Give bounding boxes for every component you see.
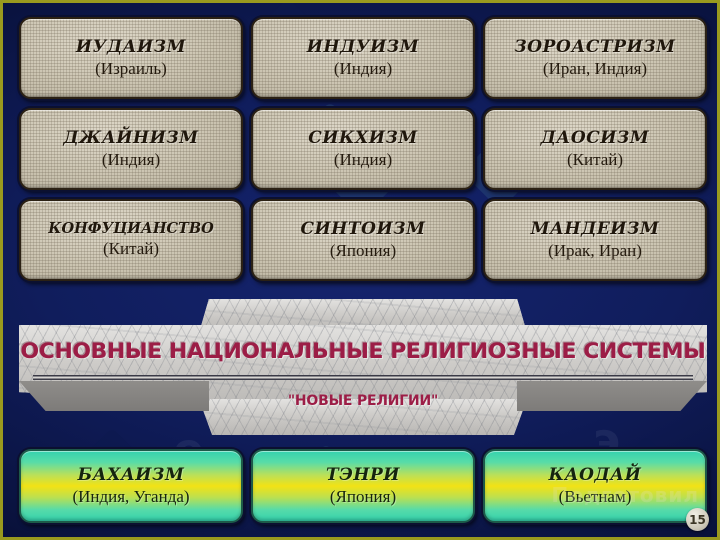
religion-card-mandaeism[interactable]: МАНДЕИЗМ (Ирак, Иран) [483, 199, 707, 281]
religion-name: СИКХИЗМ [308, 129, 418, 148]
religion-region: (Индия) [334, 151, 392, 170]
religion-name: ДЖАЙНИЗМ [63, 129, 198, 148]
religion-region: (Китай) [103, 240, 159, 259]
religion-row: ИУДАИЗМ (Израиль) ИНДУИЗМ (Индия) ЗОРОАС… [19, 17, 707, 99]
religion-name: МАНДЕИЗМ [531, 220, 660, 239]
banner-sub-title: "НОВЫЕ РЕЛИГИИ" [3, 393, 720, 409]
national-religions-grid: ИУДАИЗМ (Израиль) ИНДУИЗМ (Индия) ЗОРОАС… [19, 17, 707, 290]
title-banner: ОСНОВНЫЕ НАЦИОНАЛЬНЫЕ РЕЛИГИОЗНЫЕ СИСТЕМ… [3, 299, 720, 435]
religion-card-zoroastrianism[interactable]: ЗОРОАСТРИЗМ (Иран, Индия) [483, 17, 707, 99]
religion-name: ТЭНРИ [326, 466, 400, 485]
religion-name: СИНТОИЗМ [300, 220, 425, 239]
religion-name: ИУДАИЗМ [76, 38, 186, 57]
religion-card-tenrikyo[interactable]: ТЭНРИ (Япония) [251, 449, 475, 523]
religion-card-shintoism[interactable]: СИНТОИЗМ (Япония) [251, 199, 475, 281]
religion-card-taoism[interactable]: ДАОСИЗМ (Китай) [483, 108, 707, 190]
religion-region: (Китай) [567, 151, 623, 170]
religion-name: БАХАИЗМ [78, 466, 185, 485]
religion-region: (Израиль) [95, 60, 167, 79]
corner-watermark: Подготовил [552, 483, 699, 507]
religion-region: (Иран, Индия) [543, 60, 647, 79]
banner-main-title: ОСНОВНЫЕ НАЦИОНАЛЬНЫЕ РЕЛИГИОЗНЫЕ СИСТЕМ… [0, 339, 720, 364]
religion-name: ЗОРОАСТРИЗМ [514, 38, 675, 57]
religion-card-hinduism[interactable]: ИНДУИЗМ (Индия) [251, 17, 475, 99]
religion-region: (Индия) [102, 151, 160, 170]
religion-region: (Индия) [334, 60, 392, 79]
religion-name: ДАОСИЗМ [541, 129, 650, 148]
banner-divider-rule [33, 375, 693, 380]
religion-card-sikhism[interactable]: СИКХИЗМ (Индия) [251, 108, 475, 190]
religion-region: (Япония) [330, 488, 396, 507]
religion-row: ДЖАЙНИЗМ (Индия) СИКХИЗМ (Индия) ДАОСИЗМ… [19, 108, 707, 190]
religion-name: КАОДАЙ [549, 466, 642, 485]
religion-region: (Индия, Уганда) [72, 488, 189, 507]
religion-card-judaism[interactable]: ИУДАИЗМ (Израиль) [19, 17, 243, 99]
religion-card-jainism[interactable]: ДЖАЙНИЗМ (Индия) [19, 108, 243, 190]
religion-region: (Япония) [330, 242, 396, 261]
religion-name: КОНФУЦИАНСТВО [48, 221, 213, 237]
religion-row: КОНФУЦИАНСТВО (Китай) СИНТОИЗМ (Япония) … [19, 199, 707, 281]
religion-card-confucianism[interactable]: КОНФУЦИАНСТВО (Китай) [19, 199, 243, 281]
religion-name: ИНДУИЗМ [307, 38, 419, 57]
presentation-slide: e э ИУДАИЗМ (Израиль) ИНДУИЗМ (Индия) ЗО… [0, 0, 720, 540]
religion-card-bahaism[interactable]: БАХАИЗМ (Индия, Уганда) [19, 449, 243, 523]
religion-region: (Ирак, Иран) [548, 242, 642, 261]
page-number-badge: 15 [686, 508, 709, 531]
